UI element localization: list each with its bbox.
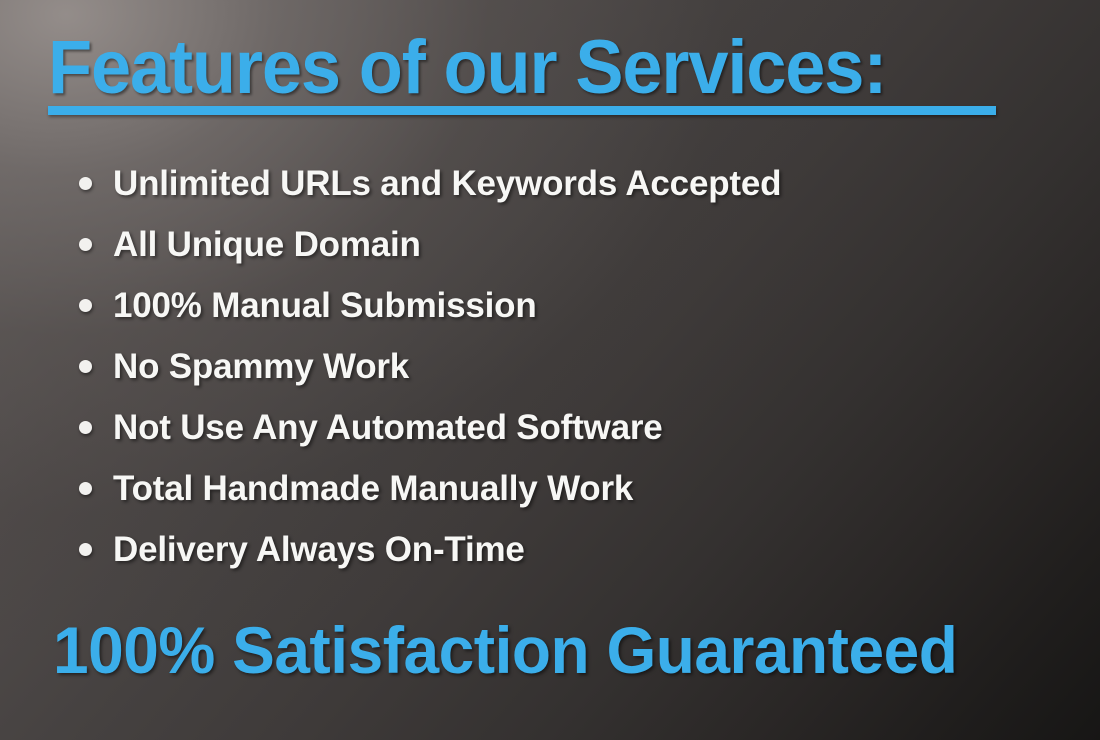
bullet-dot-icon	[79, 238, 92, 251]
list-item-label: Unlimited URLs and Keywords Accepted	[113, 164, 781, 203]
list-item: Unlimited URLs and Keywords Accepted	[72, 160, 1032, 221]
bullet-dot-icon	[79, 177, 92, 190]
list-item-label: All Unique Domain	[113, 225, 421, 264]
list-item: All Unique Domain	[72, 221, 1032, 282]
list-item-label: Delivery Always On-Time	[113, 530, 525, 569]
list-item-label: 100% Manual Submission	[113, 286, 537, 325]
page-title: Features of our Services:	[48, 28, 951, 108]
list-item-label: Total Handmade Manually Work	[113, 469, 633, 508]
feature-list: Unlimited URLs and Keywords Accepted All…	[72, 160, 1032, 587]
satisfaction-guarantee-tagline: 100% Satisfaction Guaranteed	[53, 612, 1023, 688]
title-underline	[48, 106, 996, 115]
list-item: Delivery Always On-Time	[72, 526, 1032, 587]
list-item: No Spammy Work	[72, 343, 1032, 404]
list-item-label: No Spammy Work	[113, 347, 409, 386]
bullet-dot-icon	[79, 543, 92, 556]
bullet-dot-icon	[79, 299, 92, 312]
bullet-dot-icon	[79, 421, 92, 434]
title-block: Features of our Services:	[48, 28, 998, 108]
list-item: 100% Manual Submission	[72, 282, 1032, 343]
promo-slide: Features of our Services: Unlimited URLs…	[0, 0, 1100, 740]
bullet-dot-icon	[79, 360, 92, 373]
list-item-label: Not Use Any Automated Software	[113, 408, 663, 447]
bullet-dot-icon	[79, 482, 92, 495]
list-item: Not Use Any Automated Software	[72, 404, 1032, 465]
list-item: Total Handmade Manually Work	[72, 465, 1032, 526]
